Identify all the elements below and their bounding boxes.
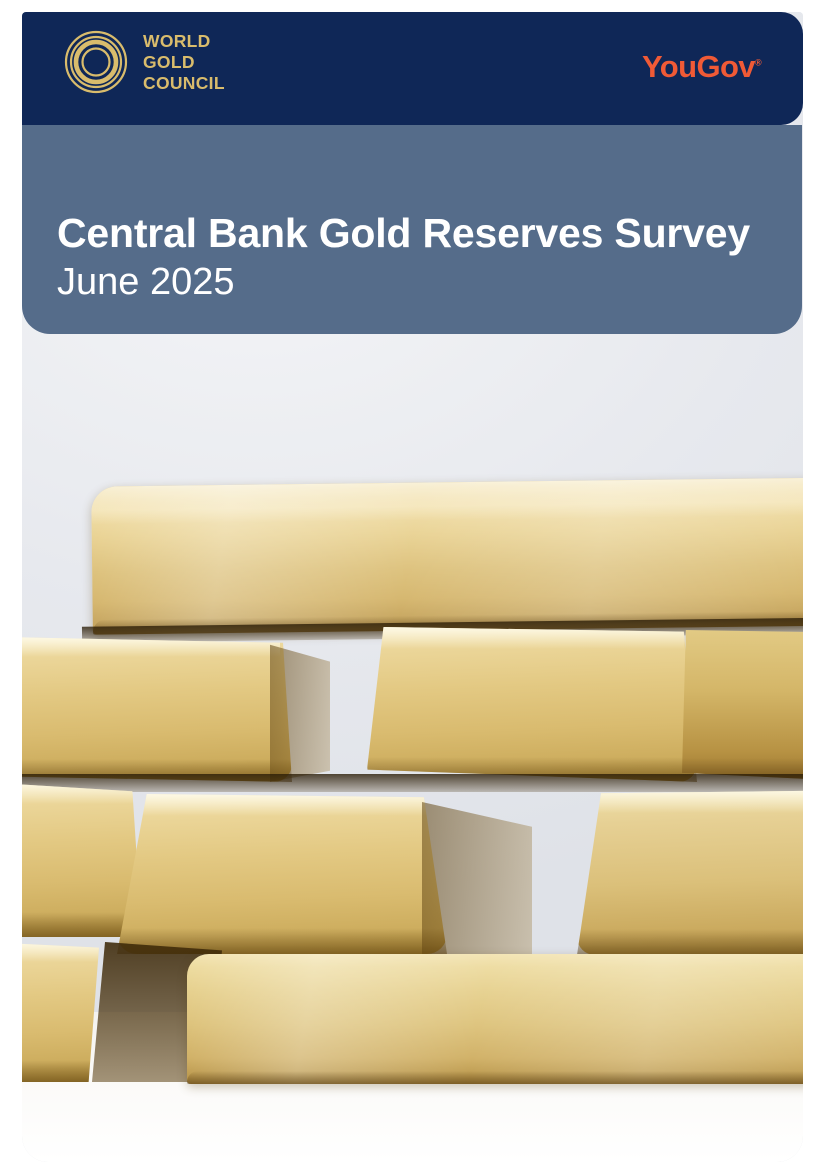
gold-bar-gap-shadow-2 bbox=[22, 774, 803, 792]
gold-bar-row3-left bbox=[22, 782, 142, 937]
yougov-trademark-icon: ® bbox=[755, 58, 761, 68]
yougov-logo[interactable]: YouGov® bbox=[642, 49, 761, 85]
logo-word-line-2: GOLD bbox=[143, 52, 225, 73]
gold-bar-front-bottom bbox=[187, 954, 803, 1084]
world-gold-council-logo[interactable]: WORLD GOLD COUNCIL bbox=[64, 30, 225, 94]
logo-wordmark: WORLD GOLD COUNCIL bbox=[143, 31, 225, 94]
gold-bar-row3-center-side bbox=[422, 802, 532, 957]
gold-bar-row3-center bbox=[117, 794, 447, 954]
logo-word-line-3: COUNCIL bbox=[143, 73, 225, 94]
header-band: WORLD GOLD COUNCIL YouGov® bbox=[22, 12, 803, 125]
report-cover-page: WORLD GOLD COUNCIL YouGov® Central Bank … bbox=[0, 0, 826, 1174]
gold-bar-row2-far-right bbox=[682, 630, 803, 782]
gold-bar-row2-right bbox=[367, 627, 697, 782]
gold-bar-top bbox=[91, 477, 803, 634]
cover-title-group: Central Bank Gold Reserves Survey June 2… bbox=[57, 208, 750, 306]
gold-bar-row2-left bbox=[22, 637, 292, 782]
yougov-wordmark: YouGov bbox=[642, 49, 755, 84]
title-band: Central Bank Gold Reserves Survey June 2… bbox=[22, 125, 802, 334]
page-title: Central Bank Gold Reserves Survey bbox=[57, 208, 750, 258]
page-subtitle: June 2025 bbox=[57, 258, 750, 306]
concentric-rings-icon bbox=[64, 30, 128, 94]
gold-bar-row2-left-side bbox=[270, 642, 330, 782]
logo-word-line-1: WORLD bbox=[143, 31, 225, 52]
gold-bar-row3-right bbox=[577, 790, 803, 955]
